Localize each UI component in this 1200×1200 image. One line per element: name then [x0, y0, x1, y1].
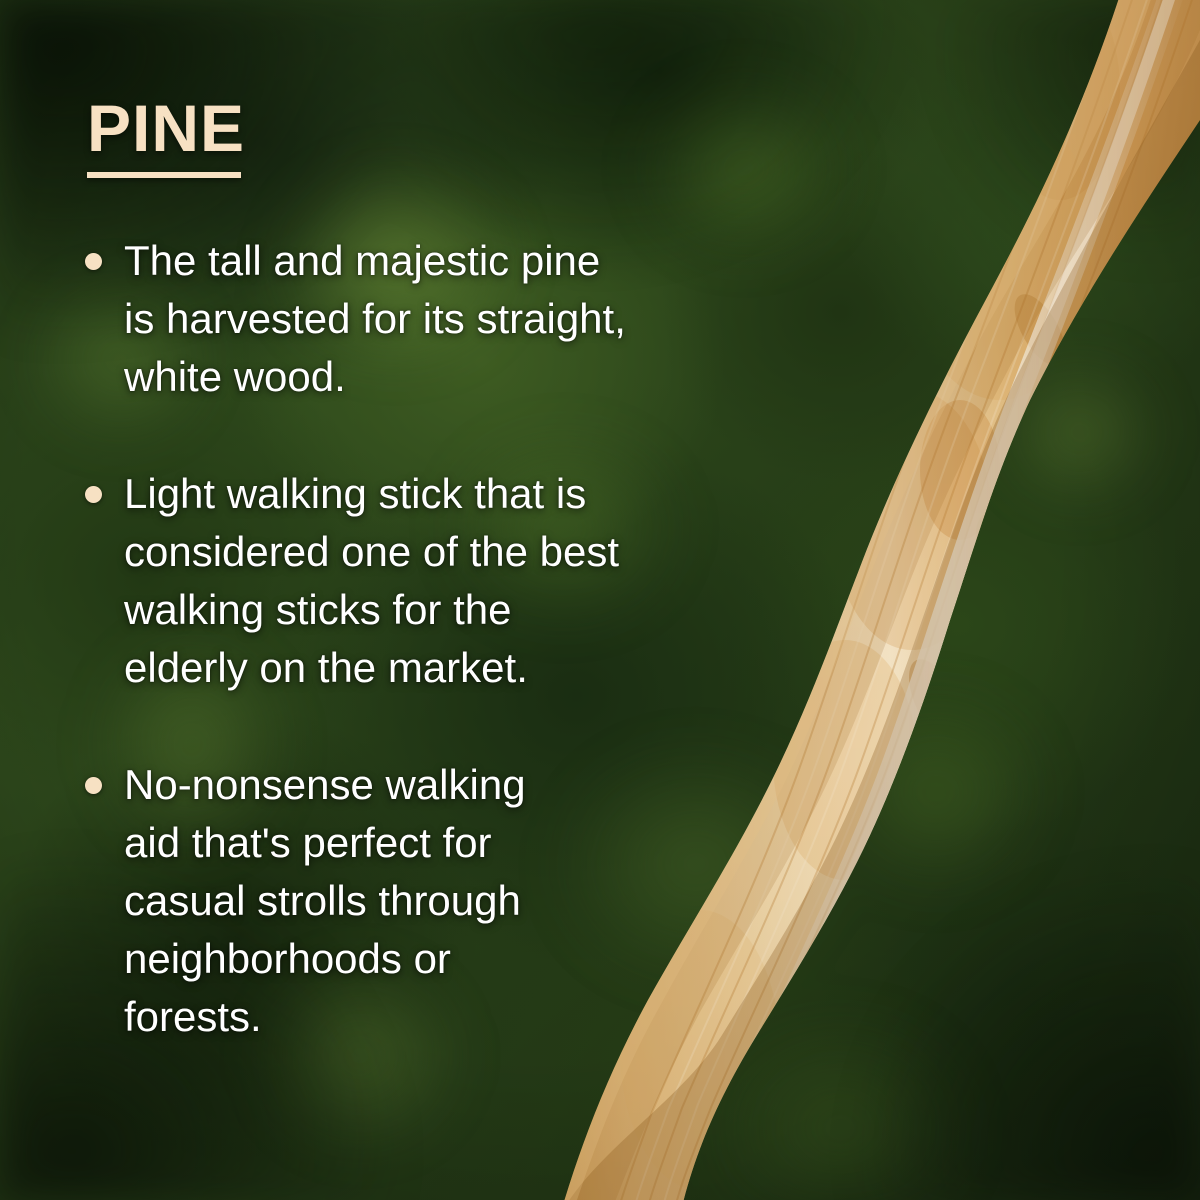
- list-item: No-nonsense walking aid that's perfect f…: [80, 756, 680, 1046]
- bullet-dot-icon: [85, 777, 102, 794]
- feature-bullet-list: The tall and majestic pine is harvested …: [80, 232, 680, 1046]
- page-title: PINE: [87, 92, 245, 164]
- list-item: Light walking stick that is considered o…: [80, 465, 680, 697]
- title-underline-rule: [87, 172, 241, 178]
- bullet-dot-icon: [85, 486, 102, 503]
- title-block: PINE: [87, 92, 245, 178]
- bullet-text: No-nonsense walking aid that's perfect f…: [124, 756, 680, 1046]
- bullet-dot-icon: [85, 253, 102, 270]
- bullet-text: The tall and majestic pine is harvested …: [124, 232, 680, 406]
- text-overlay: PINE The tall and majestic pine is harve…: [0, 0, 700, 1200]
- product-feature-card: PINE The tall and majestic pine is harve…: [0, 0, 1200, 1200]
- list-item: The tall and majestic pine is harvested …: [80, 232, 680, 406]
- bullet-text: Light walking stick that is considered o…: [124, 465, 680, 697]
